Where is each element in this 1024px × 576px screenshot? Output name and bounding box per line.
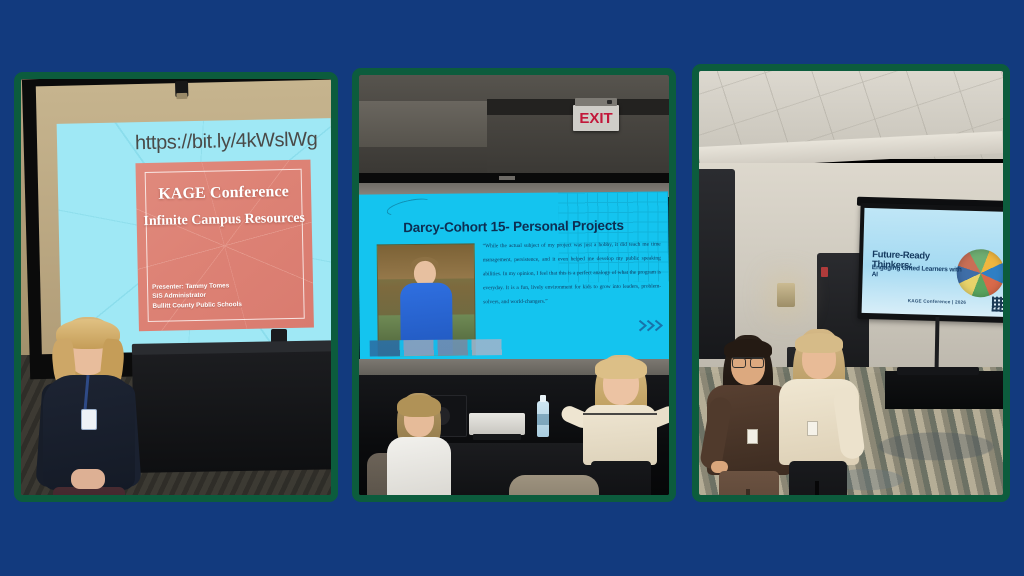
badge [807,421,818,436]
photo-panel-1[interactable]: https://bit.ly/4kWslWg KAGE Conference I… [14,72,338,502]
slide-footer-event: KAGE Conference [908,298,951,304]
slide-body-text: “While the actual subject of my project … [483,237,662,309]
hands [71,469,105,489]
fire-alarm-icon [821,267,828,277]
slide-title: KAGE Conference [136,183,311,205]
panel-1-scene: https://bit.ly/4kWslWg KAGE Conference I… [21,79,331,495]
panel-3-scene: Future-Ready Thinkers: Engaging Gifted L… [699,71,1003,495]
hair-front [397,395,441,417]
hair-front [795,333,843,353]
panel-2-scene: EXIT Darcy-Cohort 15- Personal Projects … [359,75,669,495]
slide-subtitle: Engaging Gifted Learners with AI [872,264,969,281]
photo-panel-2[interactable]: EXIT Darcy-Cohort 15- Personal Projects … [352,68,676,502]
panel-1-draped-table [132,349,331,473]
slide-short-url: https://bit.ly/4kWslWg [135,128,318,155]
projector [469,413,525,435]
badge [747,429,758,444]
panel-3-draped-table [885,371,1003,409]
collage-caption: KAGE Conference session photos [0,0,1,1]
qr-code-icon [992,297,1003,312]
badge [81,409,97,430]
slide-thumbnail-strip [370,339,520,357]
slide-title-card: KAGE Conference Infinite Campus Resource… [135,160,313,332]
slide-footer: KAGE Conference | 2026 [862,297,1003,306]
panel-3-left-door [699,169,735,359]
collage-canvas: https://bit.ly/4kWslWg KAGE Conference I… [0,0,1024,576]
slide-subtitle: Infinite Campus Resources [137,210,312,231]
panel-2-projected-slide: Darcy-Cohort 15- Personal Projects “Whil… [359,191,669,364]
projector-screen-base [897,367,979,375]
slide-footer-year: 2026 [955,299,966,304]
slide-swirl-icon [385,195,433,219]
standing-speaker-figure [577,355,663,495]
photo-panel-3[interactable]: Future-Ready Thinkers: Engaging Gifted L… [692,64,1010,502]
hair-front [724,339,772,359]
ceiling-camera-icon [175,81,188,97]
slide-presenter-block: Presenter: Tammy Tomes SIS Administrator… [152,280,304,311]
panel-2-foreground-chair [509,475,599,495]
sweater-stripe [583,413,657,415]
legs [789,461,847,495]
slide-footer-divider: | [952,299,954,304]
panel-3-projected-slide: Future-Ready Thinkers: Engaging Gifted L… [862,208,1003,317]
water-bottle [537,401,549,437]
presenter-woman-figure [37,317,147,495]
skirt [591,461,651,495]
torso [387,437,451,495]
hair-front [595,357,647,379]
panel-2-soffit [359,101,495,147]
seated-operator-figure [385,393,463,495]
chevron-right-icon [637,319,663,331]
legs [719,471,779,495]
wall-sconce-light [777,283,795,307]
panel-2-upper-black-band [359,173,669,183]
exit-sign-housing-icon [575,98,617,106]
presenter-cream-sweater-figure [777,329,861,495]
exit-sign: EXIT [573,105,619,131]
exit-sign-label: EXIT [579,111,612,126]
card-headings: KAGE Conference Infinite Campus Resource… [136,183,312,231]
eyeglasses-icon [732,357,764,365]
